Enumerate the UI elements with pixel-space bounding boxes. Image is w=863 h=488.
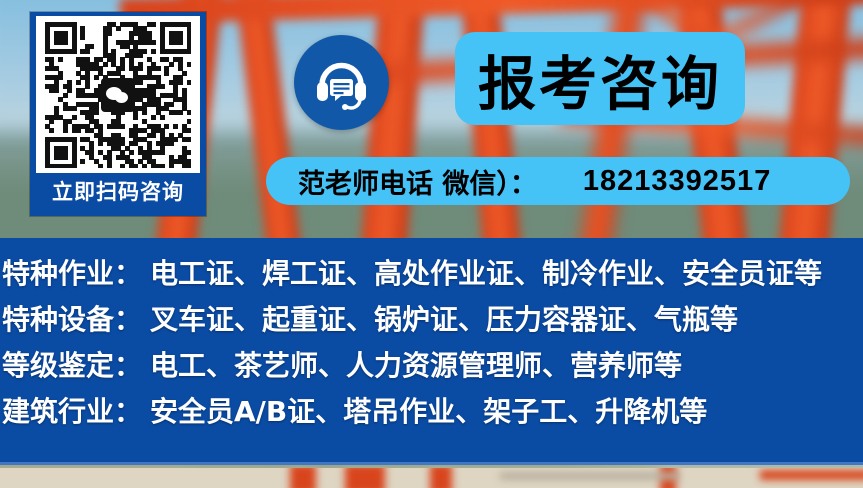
- category-items: 电工证、焊工证、高处作业证、制冷作业、安全员证等: [150, 252, 822, 292]
- crane-beam: [500, 472, 680, 480]
- page-title: 报考咨询: [478, 37, 722, 121]
- category-name: 特种设备：: [2, 298, 150, 338]
- category-items: 安全员A/B证、塔吊作业、架子工、升降机等: [150, 390, 707, 430]
- category-row: 特种作业： 电工证、焊工证、高处作业证、制冷作业、安全员证等: [0, 252, 863, 298]
- category-items: 叉车证、起重证、锅炉证、压力容器证、气瓶等: [150, 298, 738, 338]
- qr-caption: 立即扫码咨询: [52, 173, 184, 212]
- category-row: 特种设备： 叉车证、起重证、锅炉证、压力容器证、气瓶等: [0, 298, 863, 344]
- crane-beam: [760, 470, 863, 480]
- contact-phone-number[interactable]: 18213392517: [583, 165, 771, 198]
- category-name: 建筑行业：: [2, 390, 150, 430]
- qr-code[interactable]: [45, 22, 191, 168]
- promo-poster: 立即扫码咨询 报考咨询 范老师电话 微信）： 18213392517: [0, 0, 863, 488]
- category-items: 电工、茶艺师、人力资源管理师、营养师等: [150, 344, 682, 384]
- contact-banner[interactable]: 范老师电话 微信）： 18213392517: [266, 157, 850, 205]
- crane-beam: [290, 468, 316, 488]
- category-row: 等级鉴定： 电工、茶艺师、人力资源管理师、营养师等: [0, 344, 863, 390]
- certificate-list-panel: 特种作业： 电工证、焊工证、高处作业证、制冷作业、安全员证等 特种设备： 叉车证…: [0, 238, 863, 465]
- category-row: 建筑行业： 安全员A/B证、塔吊作业、架子工、升降机等: [0, 390, 863, 436]
- category-name: 等级鉴定：: [2, 344, 150, 384]
- crane-beam: [430, 468, 452, 488]
- qr-card[interactable]: 立即扫码咨询: [30, 12, 206, 216]
- bottom-photo-strip: [0, 468, 863, 488]
- category-name: 特种作业：: [2, 252, 150, 292]
- title-banner: 报考咨询: [455, 32, 745, 125]
- wechat-icon: [101, 78, 135, 112]
- crane-beam: [345, 468, 385, 488]
- headset-support-icon: [294, 35, 389, 130]
- contact-label: 范老师电话 微信）：: [298, 162, 537, 201]
- qr-code-area[interactable]: [36, 16, 200, 173]
